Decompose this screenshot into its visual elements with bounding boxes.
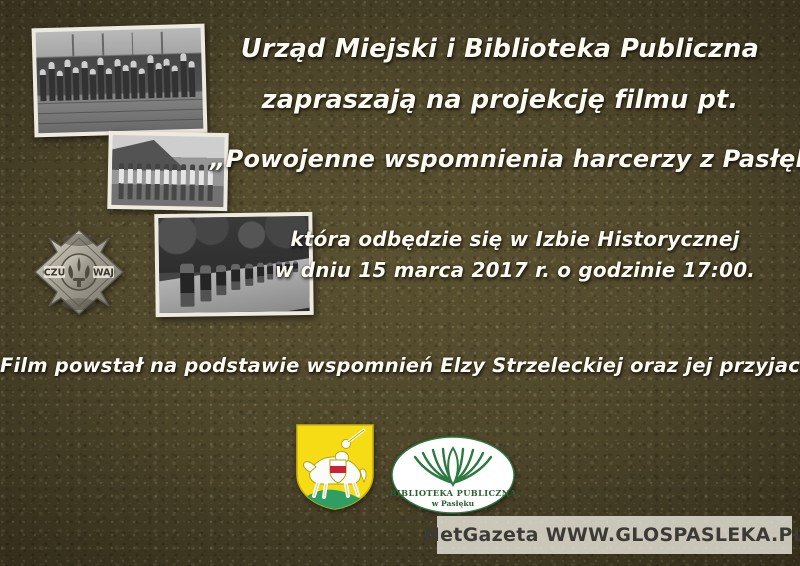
headline-line-2: zapraszają na projekcję filmu pt. — [0, 85, 800, 115]
poster-canvas: CZU WAJ Urząd Miejski i Biblioteka Publi… — [0, 0, 800, 566]
logo-subtitle: w Pasłęku — [431, 499, 475, 508]
biblioteka-publiczna-logo: BIBLIOTEKA PUBLICZNA w Pasłęku — [390, 435, 516, 515]
logo-title: BIBLIOTEKA PUBLICZNA — [390, 488, 516, 498]
film-title: „Powojenne wspomnienia harcerzy z Pasłęk… — [0, 145, 800, 173]
watermark-text: NetGazeta WWW.GLOSPASLEKA.PL — [424, 524, 800, 546]
venue-line: która odbędzie się w Izbie Historycznej — [0, 227, 800, 251]
datetime-line: w dniu 15 marca 2017 r. o godzinie 17:00… — [0, 258, 800, 282]
credits-line: Film powstał na podstawie wspomnień Elzy… — [0, 354, 800, 377]
logo-center-leaf — [448, 448, 458, 485]
headline-line-1: Urząd Miejski i Biblioteka Publiczna — [0, 34, 800, 64]
paslek-coat-of-arms — [294, 422, 376, 512]
netgazeta-watermark: NetGazeta WWW.GLOSPASLEKA.PL — [437, 516, 792, 554]
